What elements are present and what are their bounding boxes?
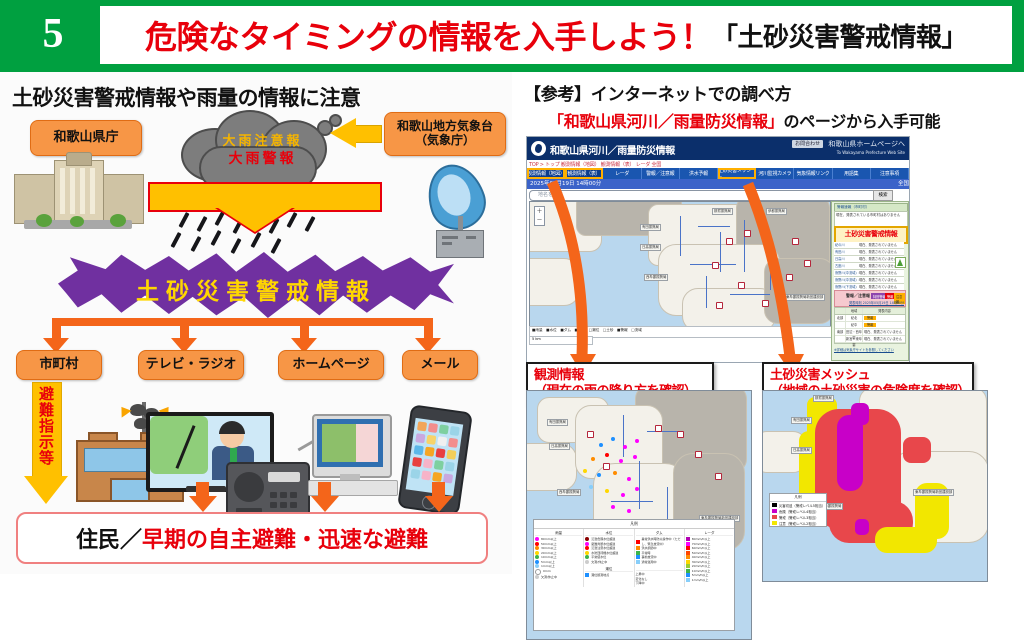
right-panel-heading: 【参考】インターネットでの調べ方 <box>524 80 791 105</box>
inset-label-nishimuro: 西牟婁振興局 <box>557 489 581 496</box>
pref-site-link[interactable]: お問合わせ 和歌山県ホームページへ To Wakayama Prefecture… <box>792 140 905 157</box>
map-scale: 5 km <box>529 336 593 345</box>
tab-radar[interactable]: レーダ <box>603 168 641 179</box>
table-row: 古座川現在、発表されていません <box>834 263 904 270</box>
map-label-arida: 有田振興局 <box>640 224 661 231</box>
map-zoom-controls[interactable]: ＋ － <box>534 206 545 226</box>
legend-column-waterlevel: 水位 氾濫危険水位超過 避難判断水位超過 氾濫注意水位超過 水防団待機水位超過 … <box>584 529 634 587</box>
search-button[interactable]: 検索 <box>873 190 893 201</box>
tab-notes[interactable]: 注意事項 <box>871 168 909 179</box>
mesh-label-hidaka: 日高振興局 <box>791 447 812 454</box>
map-label-nishimuro: 西牟婁振興局 <box>644 274 668 281</box>
legend-item: 注意（警戒レベル2相当） <box>770 520 826 526</box>
table-row: 南部田辺・西牟婁現在、発表されていません <box>835 329 905 336</box>
yellow-down-arrow <box>215 206 295 232</box>
dist-box-tv-radio[interactable]: テレビ・ラジオ <box>138 350 244 380</box>
pref-link-line1[interactable]: 和歌山県ホームページへ <box>828 140 905 148</box>
slide-title-black: 「土砂災害警戒情報」 <box>712 17 967 54</box>
slide-title-box: 危険なタイミングの情報を入手しよう！ 「土砂災害警戒情報」 <box>100 6 1012 64</box>
slide-number: 5 <box>22 6 84 62</box>
table-row: 熊野川(中流域)（日置2区）現在、発表されていません <box>834 277 904 284</box>
legend-column-rainfall: 雨量 80mm以上 50mm以上 30mm以上 20mm以上 10mm以上 5m… <box>534 529 584 587</box>
met-office-line1: 和歌山地方気象台 <box>397 120 493 134</box>
satellite-dish-illustration <box>412 164 498 256</box>
tab-warnings[interactable]: 警報／注意報 <box>642 168 680 179</box>
side-panel-footer-link[interactable]: ※詳細は気象庁サイトを参照してください <box>834 347 894 352</box>
tab-weather-links[interactable]: 気象情報リンク <box>794 168 832 179</box>
pref-link-line2: To Wakayama Prefecture Web Site <box>837 150 905 155</box>
datebar-right-label[interactable]: 全国 <box>898 179 909 189</box>
site-title: 和歌山県河川／雨量防災情報 <box>550 142 675 157</box>
browser-nav-tabs[interactable]: 観測情報（地図） 観測情報（表） レーダ 警報／注意報 洪水予報 土砂災害メッシ… <box>527 168 909 179</box>
prefectural-office-building-illustration <box>14 160 142 230</box>
map-label-ito: 伊都振興局 <box>766 208 787 215</box>
callout-observation-line1: 観測情報 <box>534 368 706 384</box>
browser-side-panel: 警報速報（市町村） 現在、発表されている市町村はありません 土砂災害警戒情報 紀… <box>831 201 909 361</box>
landslide-warning-burst: 土砂災害警戒情報 <box>58 252 454 318</box>
dist-box-homepage[interactable]: ホームページ <box>278 350 384 380</box>
browser-screenshot[interactable]: 和歌山県河川／雨量防災情報 お問合わせ 和歌山県ホームページへ To Wakay… <box>526 136 910 363</box>
tab-glossary[interactable]: 用語集 <box>833 168 871 179</box>
zoom-out-button[interactable]: － <box>535 216 544 225</box>
tab-river-camera[interactable]: 河川監視カメラ <box>756 168 794 179</box>
evacuation-action-label: 早期の自主避難・迅速な避難 <box>142 522 428 554</box>
mesh-label-naga: 那賀振興局 <box>813 395 834 402</box>
mesh-label-higashimuro: 東牟婁振興局新宮建設部 <box>913 489 954 496</box>
side-panel-river-table: 紀の川現在、発表されていません 有田川現在、発表されていません 日高川現在、発表… <box>834 242 904 291</box>
evacuation-order-label: 避難指示等 <box>35 386 57 466</box>
map-label-higashimuro: 東牟婁振興局新宮建設部 <box>784 294 825 301</box>
residents-label: 住民／ <box>76 522 142 554</box>
region-warning-table: 地域発表内容 北部紀北警報 紀中警報 南部田辺・西牟婁現在、発表されていません … <box>834 307 906 344</box>
site-name-suffix: のページから入手可能 <box>784 112 941 131</box>
met-office-box: 和歌山地方気象台 （気象庁） <box>384 112 506 156</box>
map-label-naga: 那賀振興局 <box>712 208 733 215</box>
warning-advisory-label: 警報／注意報 <box>846 293 870 299</box>
zoom-in-button[interactable]: ＋ <box>535 207 544 216</box>
slide-root: 5 危険なタイミングの情報を入手しよう！ 「土砂災害警戒情報」 土砂災害警戒情報… <box>0 0 1024 574</box>
inset-label-arida: 有田振興局 <box>547 419 568 426</box>
rain-advisory-label: 大雨注意報 <box>175 130 350 149</box>
slide-title-red: 危険なタイミングの情報を入手しよう！ <box>145 12 712 58</box>
met-office-line2: （気象庁） <box>415 134 475 148</box>
evacuation-order-arrow: 避難指示等 <box>24 382 68 504</box>
table-row: 新宮・東牟婁現在、発表されていません <box>835 336 905 343</box>
right-panel: 【参考】インターネットでの調べ方 「和歌山県河川／雨量防災情報」のページから入手… <box>512 72 1024 574</box>
dist-box-mail[interactable]: メール <box>402 350 478 380</box>
legend-item: 警戒（警戒レベル3相当） <box>770 514 826 520</box>
inset-label-hidaka: 日高振興局 <box>549 443 570 450</box>
datetime-bar: 2025年05月19日 14時00分 全国 <box>527 179 910 189</box>
search-input[interactable]: 地名を入力 <box>529 190 879 201</box>
pref-office-box: 和歌山県庁 <box>30 120 142 156</box>
legend-column-dam: ダム 異常洪水時防災操作中（ただし、緊急放流中） 洪水調節中 平常時 事前放流中… <box>635 529 685 587</box>
legend-item: 災害切迫（警戒レベル5相当） <box>770 502 826 508</box>
table-row: 熊野川(中流域)（支流域2区）現在、発表されていません <box>834 270 904 277</box>
rain-warning-label: 大雨警報 <box>175 148 350 168</box>
rain-cloud-illustration: 大雨注意報 大雨警報 <box>175 106 350 190</box>
table-row: 有田川現在、発表されていません <box>834 249 904 256</box>
callout-landslide-line1: 土砂災害メッシュ <box>770 368 966 384</box>
table-row: 紀中警報 <box>835 322 905 329</box>
legend-title: 凡例 <box>770 494 826 502</box>
warning-issue-time[interactable]: 発表時刻 2025年05月19日 14時00分 <box>849 300 904 305</box>
green-triangle-icon <box>895 257 906 268</box>
observation-map-inset[interactable]: 有田振興局 日高振興局 西牟婁振興局 東牟婁振興局新宮建設部 凡例 雨量 80m… <box>526 390 752 640</box>
table-row: 北部紀北警報 <box>835 315 905 322</box>
left-panel: 土砂災害警戒情報や雨量の情報に注意 和歌山県庁 大雨注意報 大雨 <box>0 72 512 574</box>
dist-box-municipality[interactable]: 市町村 <box>16 350 102 380</box>
site-name-red: 「和歌山県河川／雨量防災情報」 <box>548 112 784 131</box>
site-logo-icon <box>531 141 546 156</box>
tab-observation-table[interactable]: 観測情報（表） <box>565 168 603 179</box>
residents-action-box: 住民／ 早期の自主避難・迅速な避難 <box>16 512 488 564</box>
landslide-mesh-inset[interactable]: 那賀振興局 有田振興局 日高振興局 西牟婁振興局 東牟婁振興局新宮建設部 凡例 … <box>762 390 988 582</box>
warning-advisory-section: 警報／注意報 特別警報 警報 注意報 発表時刻 2025年05月19日 14時0… <box>834 290 906 307</box>
tab-observation-map[interactable]: 観測情報（地図） <box>527 168 565 179</box>
legend-title: 凡例 <box>534 520 734 529</box>
slide-header: 5 危険なタイミングの情報を入手しよう！ 「土砂災害警戒情報」 <box>0 0 1024 72</box>
mesh-label-arida: 有田振興局 <box>791 417 812 424</box>
legend-column-radar: レーダ 80mm/h以上 70mm/h以上 60mm/h以上 50mm/h以上 … <box>685 529 734 587</box>
observation-map-legend: 凡例 雨量 80mm以上 50mm以上 30mm以上 20mm以上 10mm以上… <box>533 519 735 631</box>
tab-landslide-mesh[interactable]: 土砂災害メッシュ <box>718 168 756 179</box>
right-panel-subheading: 「和歌山県河川／雨量防災情報」のページから入手可能 <box>548 108 940 132</box>
breadcrumb: TOP > トップ 観測情報（地図） 観測情報（表） レーダ 全国 <box>529 161 661 168</box>
table-header: 地域発表内容 <box>835 308 905 315</box>
contact-button[interactable]: お問合わせ <box>792 140 823 148</box>
table-row: 紀の川現在、発表されていません <box>834 242 904 249</box>
browser-titlebar: 和歌山県河川／雨量防災情報 お問合わせ 和歌山県ホームページへ To Wakay… <box>527 137 909 160</box>
datetime-value: 2025年05月19日 14時00分 <box>530 181 601 187</box>
tab-flood-forecast[interactable]: 洪水予報 <box>680 168 718 179</box>
landslide-warning-burst-label: 土砂災害警戒情報 <box>58 272 454 306</box>
table-row: 日高川現在、発表されていません <box>834 256 904 263</box>
legend-item: 危険（警戒レベル4相当） <box>770 508 826 514</box>
map-label-hidaka: 日高振興局 <box>640 244 661 251</box>
landslide-mesh-legend: 凡例 災害切迫（警戒レベル5相当） 危険（警戒レベル4相当） 警戒（警戒レベル3… <box>769 493 827 527</box>
main-map[interactable]: 有田振興局 日高振興局 西牟婁振興局 那賀振興局 伊都振興局 東牟婁振興局新宮建… <box>529 201 831 327</box>
